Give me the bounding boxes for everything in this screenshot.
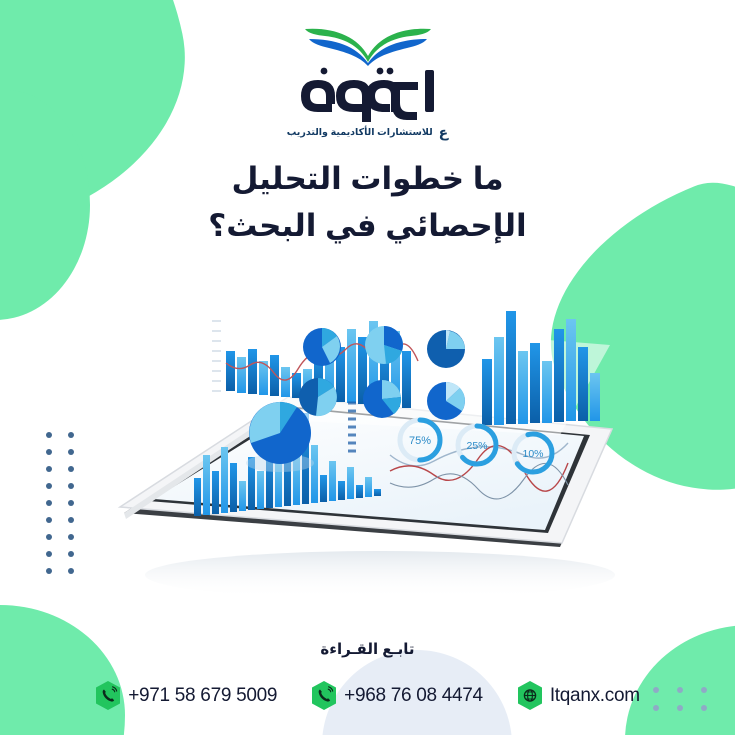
dot	[46, 551, 52, 557]
follow-label: تابـع القـراءة	[0, 640, 735, 658]
contact-website[interactable]: Itqanx.com	[517, 681, 640, 710]
dot	[46, 534, 52, 540]
brand-logo: للاستشارات الأكاديمية والتدريب ع	[0, 22, 735, 141]
gauge-label: 25%	[466, 440, 487, 452]
dot	[68, 432, 74, 438]
dot	[46, 483, 52, 489]
phone-ring-icon	[95, 681, 121, 710]
logo-tagline: للاستشارات الأكاديمية والتدريب	[287, 127, 433, 138]
contact-phone-1[interactable]: +971 58 679 5009	[95, 681, 277, 710]
contact-phone-2-text: +968 76 08 4474	[344, 685, 483, 707]
phone-ring-icon	[311, 681, 337, 710]
pie-chart	[299, 378, 337, 416]
dot	[46, 568, 52, 574]
dot	[46, 449, 52, 455]
brand-wordmark	[288, 64, 448, 122]
pie-chart	[303, 328, 341, 366]
pie-chart	[363, 380, 401, 418]
dot	[68, 551, 74, 557]
pie-chart	[427, 330, 465, 368]
poster-canvas: للاستشارات الأكاديمية والتدريب ع ما خطوا…	[0, 0, 735, 735]
globe-icon	[517, 681, 543, 710]
logo-tagline-row: للاستشارات الأكاديمية والتدريب ع	[287, 124, 448, 141]
tablet-data-analytics-illustration: 75% 25% 10%	[90, 285, 660, 605]
page-title: ما خطوات التحليل الإحصائي في البحث؟	[0, 155, 735, 249]
dot	[68, 517, 74, 523]
contact-bar: +971 58 679 5009 +968 76 08 4474 Itqanx.…	[0, 681, 735, 710]
decor-blob-bottom-left	[0, 605, 125, 735]
decor-dot-grid-left	[46, 432, 90, 585]
dotted-connector	[348, 403, 356, 451]
contact-phone-2[interactable]: +968 76 08 4474	[311, 681, 483, 710]
contact-website-text: Itqanx.com	[550, 685, 640, 707]
dot	[68, 568, 74, 574]
dot	[68, 483, 74, 489]
gauge-label: 10%	[522, 448, 543, 460]
dot	[68, 534, 74, 540]
dot	[46, 517, 52, 523]
tablet-reflection	[145, 551, 615, 599]
headline-line-1: ما خطوات التحليل	[231, 161, 503, 196]
open-book-wings-icon	[299, 22, 437, 66]
dot	[46, 432, 52, 438]
dot	[68, 500, 74, 506]
pie-chart	[365, 326, 403, 364]
gauge-label: 75%	[409, 435, 431, 447]
dot	[68, 449, 74, 455]
logo-ain-glyph: ع	[439, 124, 449, 141]
dot	[46, 500, 52, 506]
headline-line-2: الإحصائي في البحث؟	[0, 202, 735, 249]
dot	[68, 466, 74, 472]
pie-chart	[427, 382, 465, 420]
contact-phone-1-text: +971 58 679 5009	[128, 685, 277, 707]
dot	[46, 466, 52, 472]
